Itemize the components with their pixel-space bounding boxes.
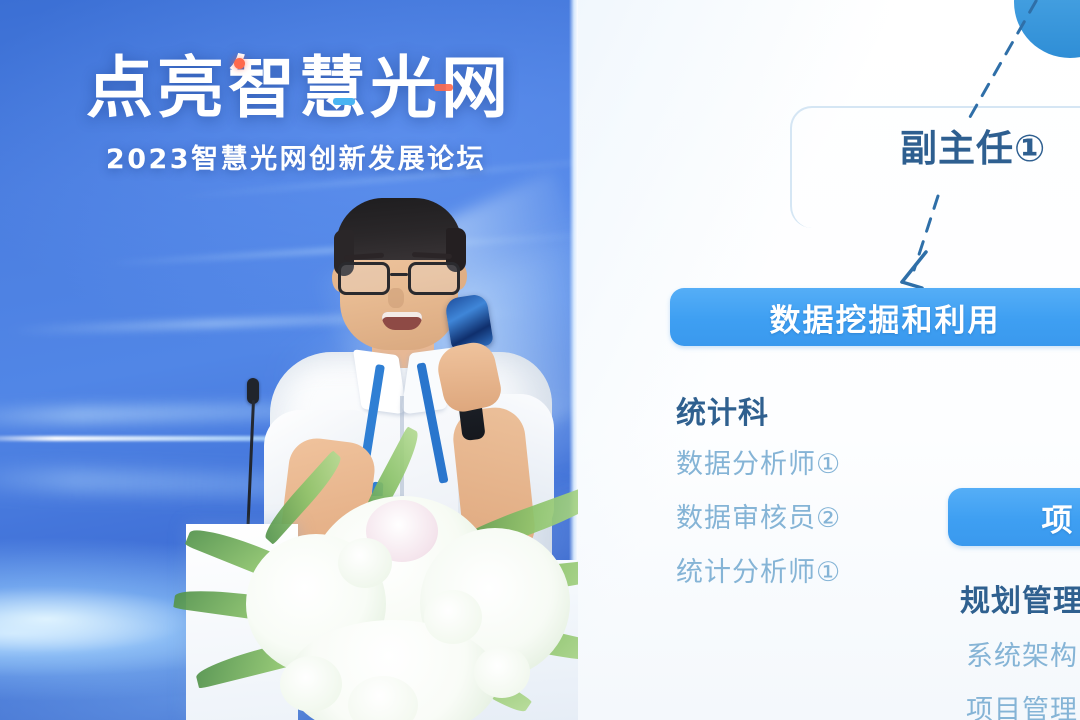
- speaker-nose: [388, 288, 404, 308]
- floral-arrangement: [188, 470, 608, 720]
- logo-dash-accent-icon: [434, 84, 453, 91]
- slide-dept-item: 数据审核员②: [676, 496, 841, 535]
- glasses-bridge: [390, 273, 408, 276]
- flower-blossom: [280, 656, 342, 712]
- logo-dot-icon: [234, 58, 245, 69]
- org-chart-role-deputy-director: 副主任①: [900, 118, 1046, 172]
- flower-blossom: [474, 646, 530, 698]
- slide-dept-title-planning: 规划管理: [960, 576, 1080, 620]
- screenshot-stage: 点亮智慧光网 2023智慧光网创新发展论坛: [0, 0, 1080, 720]
- slide-pill-label: 数据挖掘和利用: [770, 295, 1001, 340]
- flower-blossom: [424, 590, 482, 644]
- podium-microphone: [247, 378, 259, 404]
- glasses-lens-left: [338, 262, 390, 295]
- slide-pill-data-mining[interactable]: 数据挖掘和利用: [670, 288, 1080, 346]
- slide-dept-item: 系统架构: [966, 634, 1078, 673]
- glasses-lens-right: [408, 262, 460, 295]
- event-logo-subtitle: 2023智慧光网创新发展论坛: [86, 137, 506, 176]
- slide-pill-project[interactable]: 项: [948, 488, 1080, 546]
- slide-dept-item: 统计分析师①: [676, 550, 841, 589]
- speaker-hair: [336, 198, 462, 260]
- flower-blossom: [338, 538, 392, 588]
- event-logo: 点亮智慧光网 2023智慧光网创新发展论坛: [86, 52, 506, 176]
- slide-pill-label: 项: [1042, 495, 1075, 540]
- slide-dept-item: 项目管理: [966, 688, 1078, 720]
- speaker-mouth: [382, 312, 422, 330]
- logo-dash-icon: [333, 98, 355, 105]
- slide-dept-item: 数据分析师①: [676, 442, 841, 481]
- slide-dept-title-statistics: 统计科: [676, 388, 769, 432]
